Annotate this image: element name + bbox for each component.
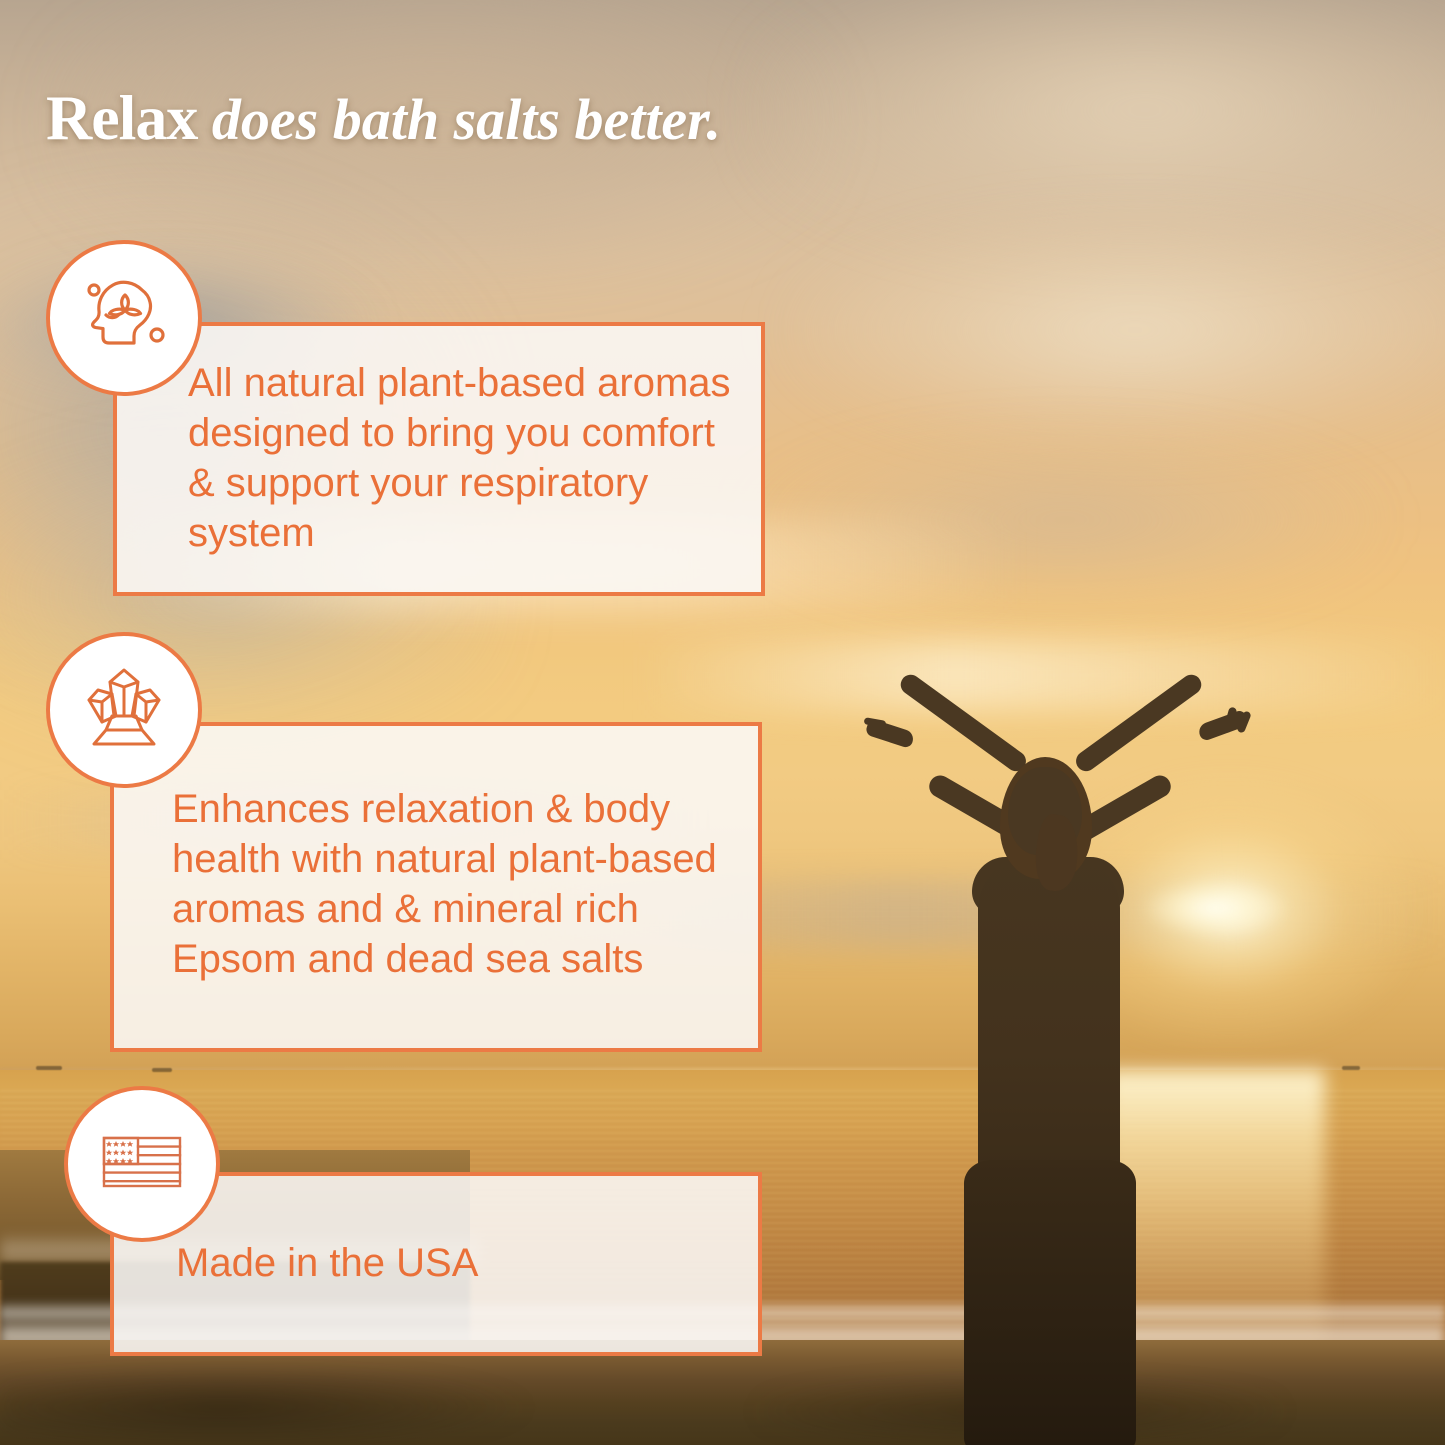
head-lotus-icon [72, 264, 176, 373]
marketing-banner: Relax does bath salts better. All natura… [0, 0, 1445, 1445]
feature-icon-badge-2 [46, 632, 202, 788]
feature-text-3: Made in the USA [176, 1238, 736, 1288]
distant-boat [152, 1068, 172, 1072]
torso [978, 855, 1120, 1185]
mineral-crystals-icon [72, 656, 176, 765]
feature-text-2: Enhances relaxation & body health with n… [172, 784, 752, 984]
skirt [964, 1160, 1136, 1445]
feature-icon-badge-3 [64, 1086, 220, 1242]
brand-name: Relax [46, 82, 197, 153]
cloud-streak-b [640, 640, 1445, 710]
feature-text-1: All natural plant-based aromas designed … [188, 358, 748, 558]
page-title: Relax does bath salts better. [46, 86, 721, 150]
distant-boat [36, 1066, 62, 1070]
usa-flag-icon [90, 1110, 194, 1219]
headline-tagline: does bath salts better. [197, 87, 721, 152]
feature-icon-badge-1 [46, 240, 202, 396]
woman-silhouette [860, 705, 1280, 1445]
distant-boat [1342, 1066, 1360, 1070]
sand-debris-left [0, 1370, 560, 1445]
